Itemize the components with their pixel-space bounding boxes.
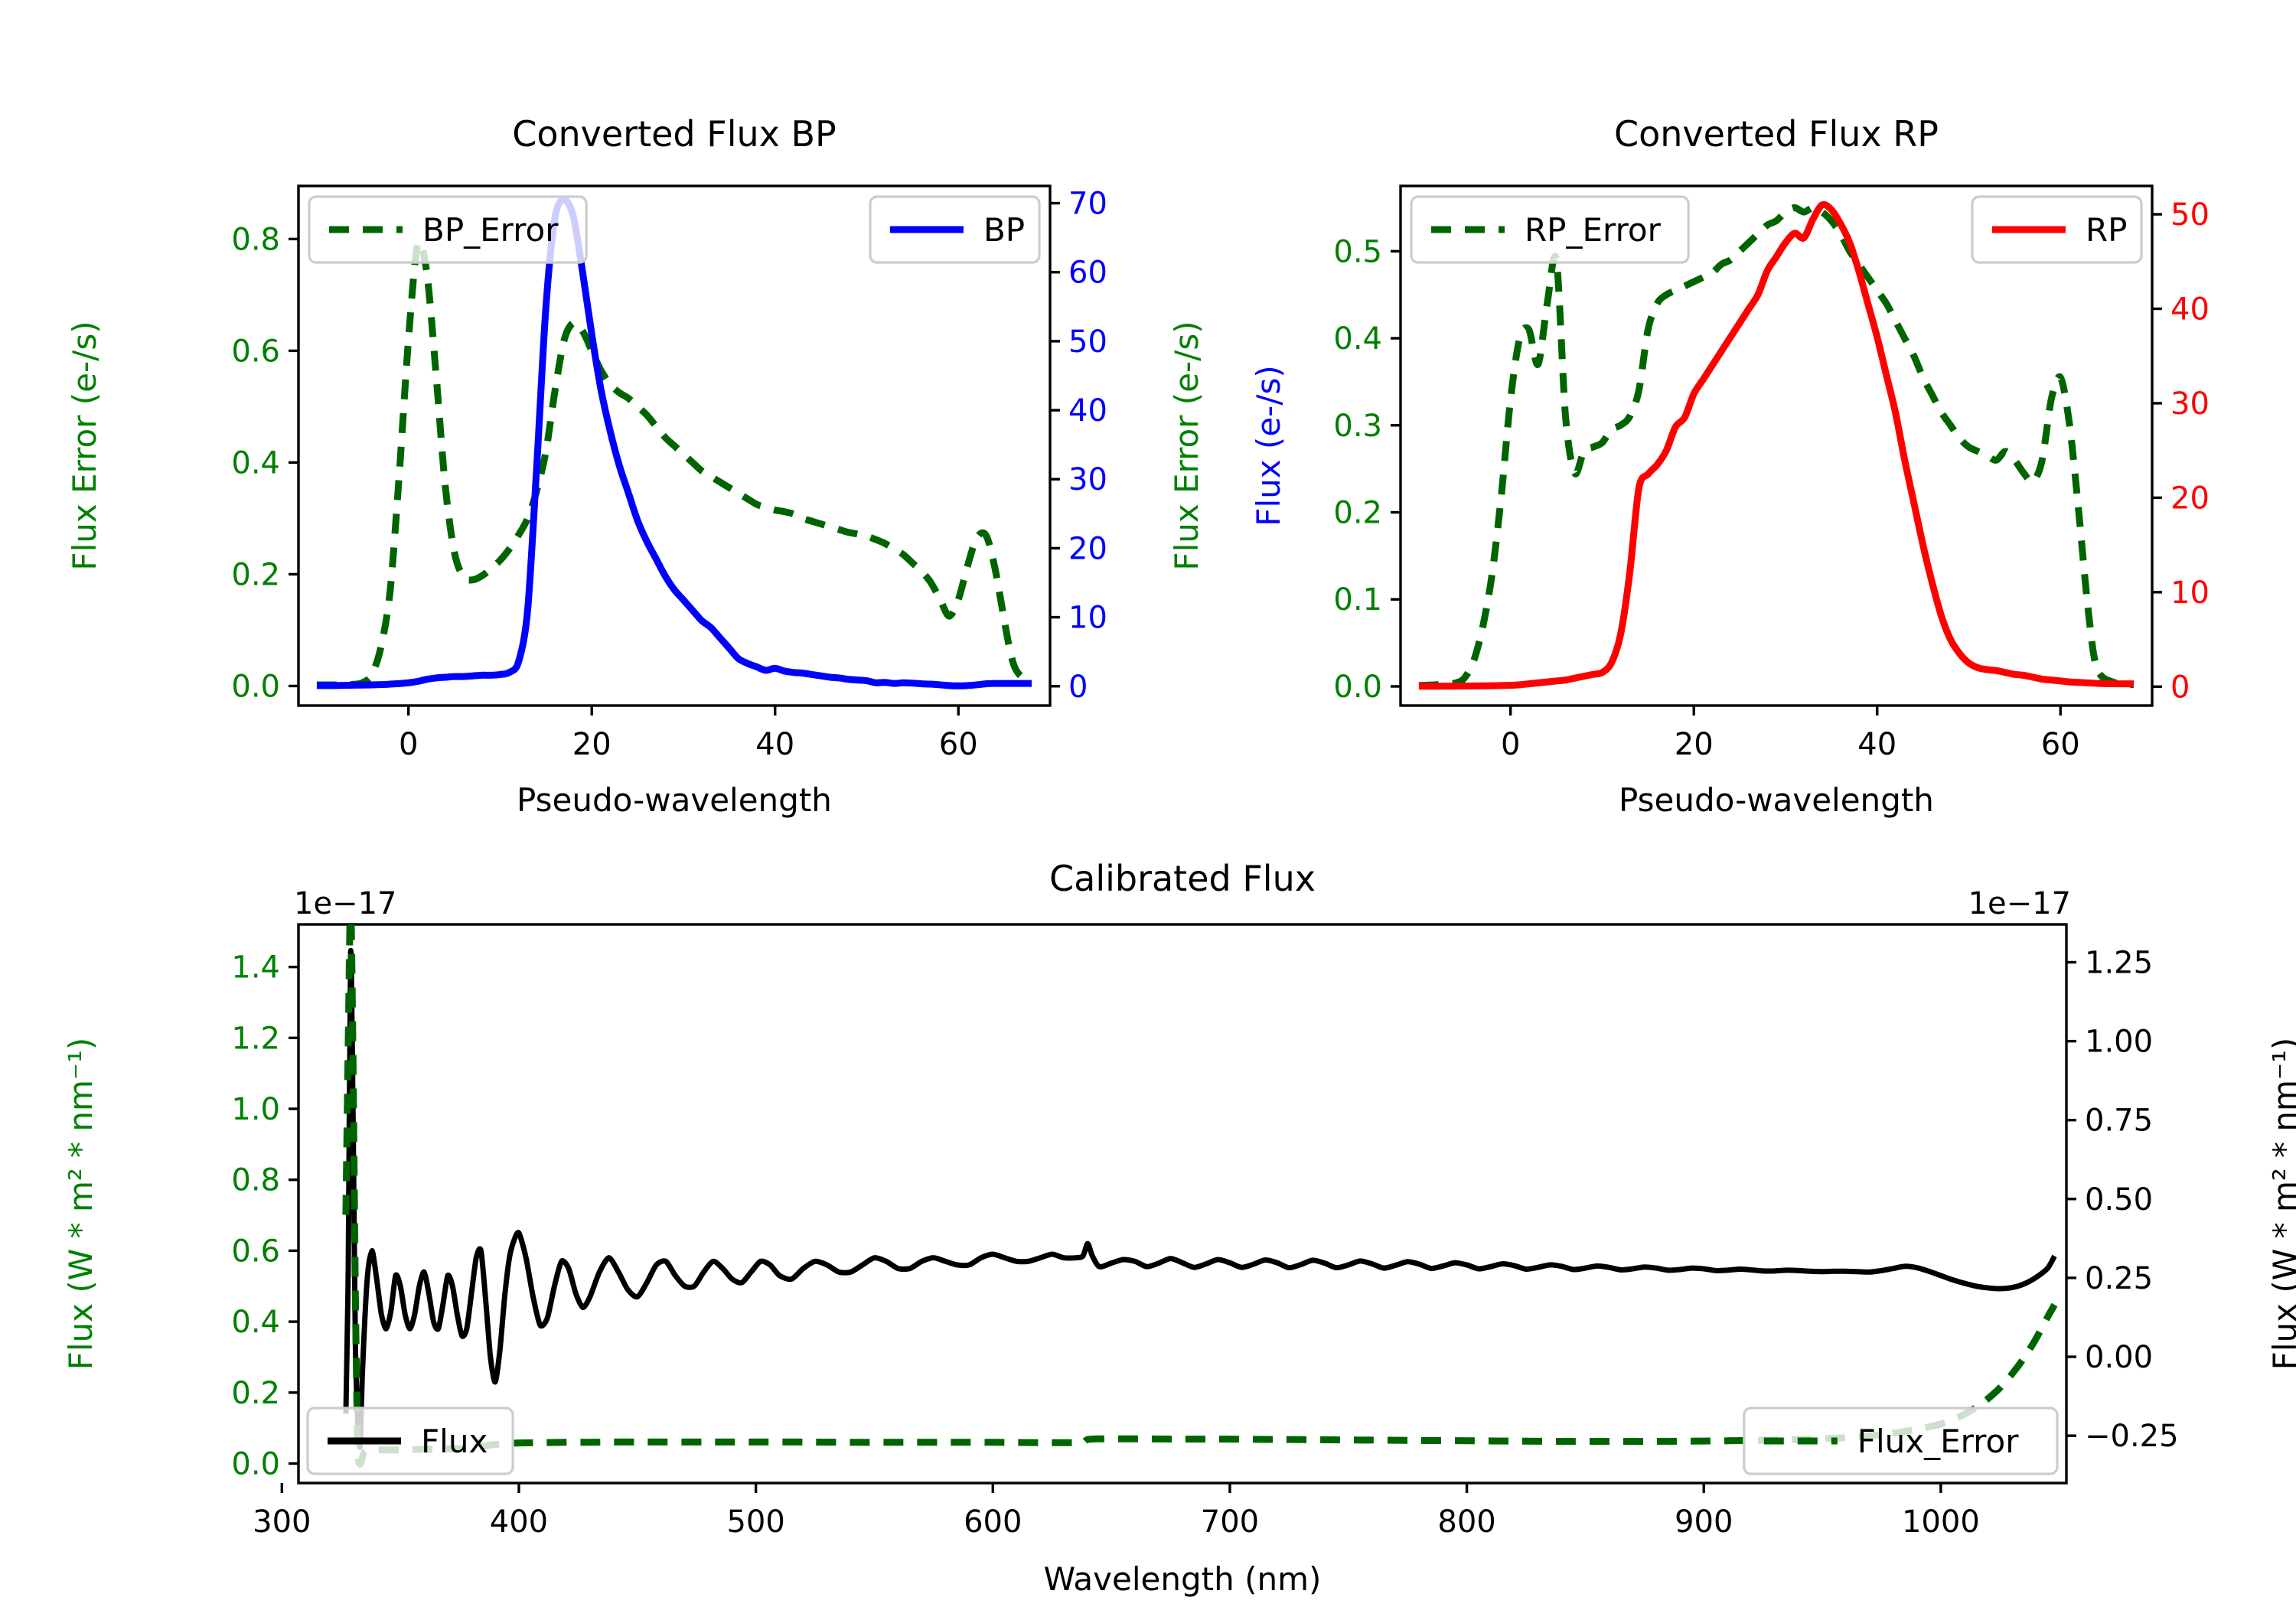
x-tick-label: 600 [964,1504,1022,1540]
y-axis-label-left: Flux (W * m² * nm⁻¹) [62,1038,99,1371]
y-offset-exponent-left: 1e−17 [294,886,396,921]
y-tick-label-left: 1.4 [231,950,280,986]
y-tick-label-right: 0.75 [2085,1103,2153,1139]
chart-calibrated: Calibrated Flux1e−171e−17300400500600700… [0,826,2296,1607]
y-axis-right: 010203040506070 [1050,187,1107,705]
figure-root: Converted Flux BP0204060Pseudo-wavelengt… [0,0,2296,1607]
y-tick-label-left: 0.6 [231,334,280,369]
x-tick-label: 40 [1857,727,1896,762]
x-axis-label: Pseudo-wavelength [1619,781,1934,819]
chart-bp: Converted Flux BP0204060Pseudo-wavelengt… [0,0,1148,826]
plot-frame [1401,186,2152,706]
chart-title: Calibrated Flux [1049,858,1316,899]
legend-label: RP_Error [1525,211,1662,249]
legend-flux[interactable]: Flux [308,1408,513,1474]
y-offset-exponent-right: 1e−17 [1968,886,2071,921]
legend-label: BP [983,211,1025,249]
y-tick-label-right: 40 [2170,292,2210,327]
x-tick-label: 20 [572,727,612,762]
x-tick-label: 400 [490,1504,548,1540]
legend-label: BP_Error [422,211,559,249]
legend-label: Flux_Error [1857,1423,2019,1460]
y-axis-left: 0.00.20.40.60.81.01.21.4 [231,950,298,1482]
y-tick-label-right: 10 [2170,575,2210,611]
y-tick-label-left: 0.3 [1333,409,1382,444]
y-axis-right: −0.250.000.250.500.751.001.25 [2066,945,2179,1454]
y-tick-label-right: 0 [2170,670,2190,705]
x-tick-label: 700 [1201,1504,1259,1540]
y-tick-label-left: 0.8 [231,222,280,257]
y-axis-left: 0.00.10.20.30.40.5 [1333,234,1401,705]
data-layer [346,899,2055,1464]
y-tick-label-right: −0.25 [2085,1419,2179,1454]
series-line-flux [346,950,2055,1447]
series-line-rp [1419,204,2134,686]
x-tick-label: 40 [755,727,794,762]
y-tick-label-left: 0.6 [231,1234,280,1269]
y-tick-label-right: 1.25 [2085,945,2153,980]
panel-converted-flux-rp: Converted Flux RP0204060Pseudo-wavelengt… [1148,0,2296,826]
y-tick-label-left: 0.0 [1333,670,1382,705]
x-axis: 0204060Pseudo-wavelength [399,706,978,819]
y-tick-label-right: 0.00 [2085,1340,2153,1375]
y-tick-label-right: 70 [1068,187,1107,222]
panel-calibrated-flux: Calibrated Flux1e−171e−17300400500600700… [0,826,2296,1607]
legend-rp[interactable]: RP [1972,197,2141,262]
y-axis-left: 0.00.20.40.60.8 [231,222,298,704]
y-tick-label-right: 0.25 [2085,1261,2153,1296]
x-tick-label: 500 [726,1504,784,1540]
x-tick-label: 20 [1675,727,1714,762]
legend-bp[interactable]: BP [870,197,1039,262]
y-tick-label-right: 50 [1068,324,1107,360]
legend-label: RP [2086,211,2128,249]
series-line-rp_error [1419,207,2134,685]
y-tick-label-right: 40 [1068,393,1107,429]
y-tick-label-left: 0.2 [1333,496,1382,531]
chart-title: Converted Flux RP [1614,113,1939,155]
x-axis-label: Pseudo-wavelength [517,781,832,819]
series-line-bp_error [317,242,1032,685]
x-tick-label: 800 [1437,1504,1495,1540]
y-tick-label-left: 0.0 [231,1447,280,1482]
x-tick-label: 1000 [1902,1504,1980,1540]
y-tick-label-left: 0.8 [231,1163,280,1198]
y-tick-label-right: 30 [2170,386,2210,422]
y-tick-label-right: 20 [2170,481,2210,516]
y-tick-label-left: 0.1 [1333,582,1382,618]
chart-title: Converted Flux BP [512,113,837,155]
y-tick-label-left: 0.4 [231,445,280,481]
y-tick-label-left: 0.4 [231,1305,280,1340]
plot-frame [298,924,2066,1483]
y-tick-label-left: 1.2 [231,1021,280,1056]
legend-label: Flux [421,1423,488,1460]
y-tick-label-right: 0.50 [2085,1182,2153,1217]
y-tick-label-left: 0.2 [231,557,280,592]
x-tick-label: 0 [399,727,418,762]
y-axis-label-right: Flux (W * m² * nm⁻¹) [2266,1038,2296,1371]
x-tick-label: 900 [1675,1504,1733,1540]
y-tick-label-right: 30 [1068,462,1107,497]
y-tick-label-left: 1.0 [231,1092,280,1127]
y-tick-label-right: 1.00 [2085,1025,2153,1060]
y-tick-label-left: 0.4 [1333,321,1382,357]
y-axis-label-left: Flux Error (e-/s) [1168,321,1205,570]
series-line-flux_error [346,899,2055,1464]
x-axis: 3004005006007008009001000Wavelength (nm) [253,1483,1980,1598]
y-tick-label-right: 0 [1068,670,1088,705]
legend-bp_error[interactable]: BP_Error [309,197,586,262]
data-layer [1419,204,2134,686]
x-tick-label: 300 [253,1504,311,1540]
x-tick-label: 60 [939,727,978,762]
y-axis-right: 01020304050 [2152,197,2210,705]
x-axis: 0204060Pseudo-wavelength [1501,706,2080,819]
legend-flux_error[interactable]: Flux_Error [1744,1408,2057,1474]
y-tick-label-left: 0.5 [1333,234,1382,269]
x-tick-label: 60 [2041,727,2080,762]
y-tick-label-right: 50 [2170,197,2210,233]
y-tick-label-right: 10 [1068,601,1107,636]
panel-converted-flux-bp: Converted Flux BP0204060Pseudo-wavelengt… [0,0,1148,826]
y-axis-label-left: Flux Error (e-/s) [66,321,103,570]
data-layer [317,200,1032,686]
y-tick-label-right: 60 [1068,256,1107,291]
y-tick-label-left: 0.2 [231,1376,280,1411]
legend-rp_error[interactable]: RP_Error [1411,197,1688,262]
chart-rp: Converted Flux RP0204060Pseudo-wavelengt… [1148,0,2296,826]
x-tick-label: 0 [1501,727,1520,762]
y-tick-label-right: 20 [1068,531,1107,566]
x-axis-label: Wavelength (nm) [1044,1560,1322,1598]
y-tick-label-left: 0.0 [231,669,280,704]
